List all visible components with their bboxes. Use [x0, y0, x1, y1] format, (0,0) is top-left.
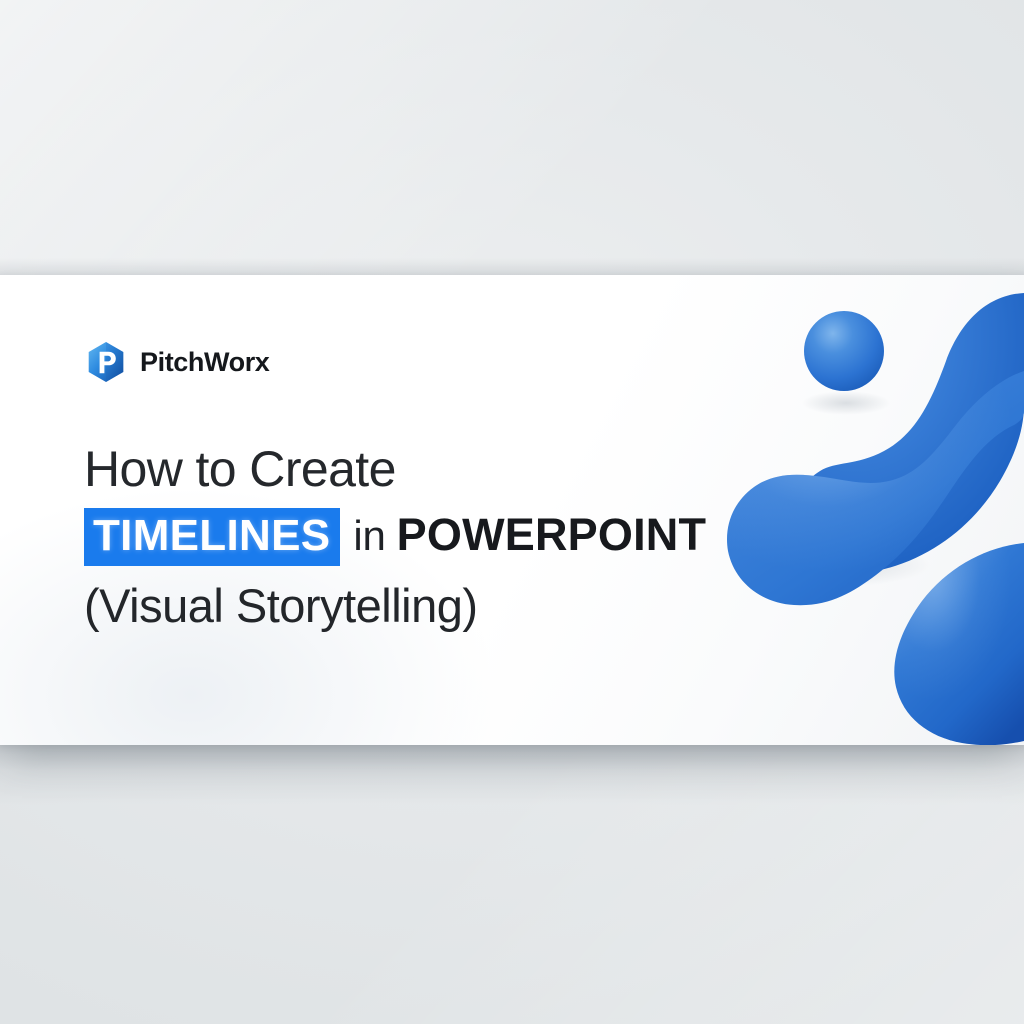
- brand-logo-lockup[interactable]: PitchWorx: [84, 340, 269, 384]
- brand-wordmark: PitchWorx: [140, 349, 269, 376]
- headline-emphasis-powerpoint: POWERPOINT: [397, 512, 707, 557]
- headline-line-1: How to Create: [84, 444, 844, 494]
- highlight-word-timelines: TIMELINES: [84, 508, 340, 566]
- card-drop-shadow: [0, 745, 1024, 805]
- small-sphere: [804, 311, 884, 391]
- lower-right-blob: [894, 543, 1024, 745]
- lower-right-blob-highlight: [894, 543, 1024, 745]
- headline-connector-in: in: [340, 515, 396, 557]
- sphere-contact-shadow: [802, 391, 890, 415]
- card-top-shadow: [0, 258, 1024, 276]
- headline-line-3-subtitle: (Visual Storytelling): [84, 582, 844, 629]
- headline-block: How to Create TIMELINES in POWERPOINT (V…: [84, 444, 844, 629]
- headline-line-2: TIMELINES in POWERPOINT: [84, 508, 844, 566]
- banner-canvas: PitchWorx How to Create TIMELINES in POW…: [0, 0, 1024, 1024]
- pitchworx-hexagon-p-logo: [84, 340, 128, 384]
